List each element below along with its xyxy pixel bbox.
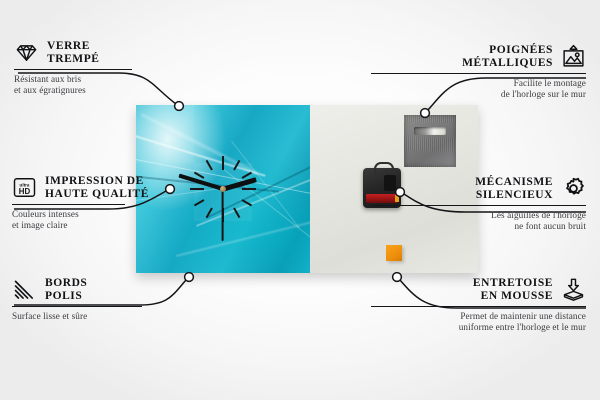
diamond-icon: [14, 40, 39, 65]
svg-text:HD: HD: [19, 187, 31, 196]
callout-header: BORDS POLIS: [12, 277, 227, 302]
callout-rule: [14, 69, 132, 70]
foam-spacer-icon: [561, 277, 586, 302]
callout-title-line2: EN MOUSSE: [481, 290, 553, 302]
callout-title-line1: IMPRESSION DE: [45, 175, 144, 187]
callout-desc-line1: Surface lisse et sûre: [12, 311, 87, 321]
callout-impression-haute-qualite: ultra HD IMPRESSION DE HAUTE QUALITÉ Cou…: [12, 175, 227, 231]
callout-rule: [371, 73, 586, 74]
callout-title-line1: VERRE: [47, 40, 90, 52]
callout-desc-line2: de l'horloge sur le mur: [501, 89, 586, 99]
callout-entretoise-en-mousse: ENTRETOISE EN MOUSSE Permet de maintenir…: [371, 277, 586, 333]
callout-header: ultra HD IMPRESSION DE HAUTE QUALITÉ: [12, 175, 227, 200]
callout-title: MÉCANISME SILENCIEUX: [475, 176, 553, 201]
callout-description: Les aiguilles de l'horloge ne font aucun…: [371, 210, 586, 232]
callout-title-line2: POLIS: [45, 290, 82, 302]
callout-poignees-metalliques: POIGNÉES MÉTALLIQUES Facilite le montage…: [371, 44, 586, 100]
callout-bords-polis: BORDS POLIS Surface lisse et sûre: [12, 277, 227, 322]
callout-rule: [371, 306, 586, 307]
callout-title-line2: SILENCIEUX: [476, 189, 553, 201]
callout-header: POIGNÉES MÉTALLIQUES: [371, 44, 586, 69]
callout-description: Facilite le montage de l'horloge sur le …: [371, 78, 586, 100]
callout-description: Résistant aux bris et aux égratignures: [14, 74, 229, 96]
callout-rule: [12, 204, 125, 205]
callout-desc-line1: Facilite le montage: [514, 78, 586, 88]
callout-rule: [12, 306, 142, 307]
callout-desc-line2: et aux égratignures: [14, 85, 86, 95]
callout-description: Couleurs intenses et image claire: [12, 209, 227, 231]
callout-title-line1: BORDS: [45, 277, 87, 289]
callout-description: Permet de maintenir une distance uniform…: [371, 311, 586, 333]
callout-title: BORDS POLIS: [45, 277, 87, 302]
callout-header: ENTRETOISE EN MOUSSE: [371, 277, 586, 302]
callout-title-line1: MÉCANISME: [475, 176, 553, 188]
callout-desc-line1: Les aiguilles de l'horloge: [491, 210, 586, 220]
callout-title: ENTRETOISE EN MOUSSE: [473, 277, 553, 302]
callout-desc-line1: Permet de maintenir une distance: [460, 311, 586, 321]
callout-desc-line2: et image claire: [12, 220, 68, 230]
callout-desc-line2: uniforme entre l'horloge et le mur: [459, 322, 586, 332]
ultra-hd-icon: ultra HD: [12, 175, 37, 200]
callout-title: POIGNÉES MÉTALLIQUES: [462, 44, 553, 69]
hanging-frame-icon: [561, 44, 586, 69]
callout-mecanisme-silencieux: MÉCANISME SILENCIEUX Les aiguilles de l'…: [371, 176, 586, 232]
callout-title-line2: MÉTALLIQUES: [462, 57, 553, 69]
infographic-canvas: VERRE TREMPÉ Résistant aux bris et aux é…: [0, 0, 600, 400]
callout-title: VERRE TREMPÉ: [47, 40, 100, 65]
callout-desc-line2: ne font aucun bruit: [514, 221, 586, 231]
callout-desc-line1: Couleurs intenses: [12, 209, 79, 219]
callout-title-line1: POIGNÉES: [489, 44, 553, 56]
callout-header: MÉCANISME SILENCIEUX: [371, 176, 586, 201]
polished-edge-icon: [12, 277, 37, 302]
callout-title: IMPRESSION DE HAUTE QUALITÉ: [45, 175, 149, 200]
callout-header: VERRE TREMPÉ: [14, 40, 229, 65]
callout-title-line2: HAUTE QUALITÉ: [45, 188, 149, 200]
callout-title-line2: TREMPÉ: [47, 53, 100, 65]
callout-rule: [371, 205, 586, 206]
callout-desc-line1: Résistant aux bris: [14, 74, 81, 84]
callout-description: Surface lisse et sûre: [12, 311, 227, 322]
gear-icon: [561, 176, 586, 201]
callout-verre-trempe: VERRE TREMPÉ Résistant aux bris et aux é…: [14, 40, 229, 96]
callout-title-line1: ENTRETOISE: [473, 277, 553, 289]
